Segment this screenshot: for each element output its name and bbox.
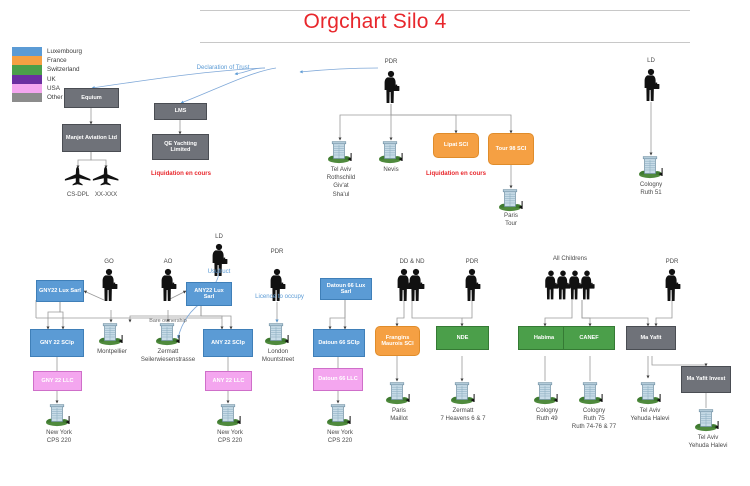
entity-nde[interactable]: NDE: [436, 326, 489, 350]
person-pdr-farright-label: PDR: [652, 258, 692, 266]
property-cologny-ruth-51-icon: [636, 155, 666, 179]
property-tel-aviv-rothschild-label: Tel Aviv Rothschild Giv'at Sha'ul: [312, 166, 370, 199]
entity-tour-98-sci[interactable]: Tour 98 SCI: [488, 133, 534, 165]
legend-label-switzerland: Switzerland: [47, 66, 80, 73]
legend-item-switzerland: Switzerland: [12, 65, 82, 74]
person-pdr-right: [462, 268, 482, 302]
person-ld-bottom-label: LD: [199, 233, 239, 241]
entity-gny22-lux-sarl[interactable]: GNY22 Lux Sarl: [36, 280, 84, 302]
property-cologny-ruth-75-label: Cologny Ruth 75 Ruth 74-76 & 77: [560, 407, 628, 432]
entity-equium[interactable]: Equium: [64, 88, 119, 108]
rule-under-title: [200, 42, 690, 43]
entity-gny-22-scip[interactable]: GNY 22 SCIp: [30, 329, 84, 357]
property-cologny-ruth-49-icon: [531, 381, 561, 405]
entity-ma-yafit-invest[interactable]: Ma Yafit Invest: [681, 366, 731, 393]
legend-swatch-uk: [12, 75, 42, 84]
person-ao-label: AO: [148, 258, 188, 266]
legend-label-usa: USA: [47, 85, 60, 92]
legend-swatch-france: [12, 56, 42, 65]
person-pdr-top: [381, 70, 401, 104]
entity-any-22-scip[interactable]: ANY 22 SCIp: [203, 329, 253, 357]
person-go-label: GO: [89, 258, 129, 266]
page-title: Orgchart Silo 4: [0, 10, 750, 34]
entity-any-22-llc[interactable]: ANY 22 LLC: [205, 371, 252, 391]
person-all-childrens-label: All Childrens: [535, 255, 605, 263]
legend-label-luxembourg: Luxembourg: [47, 48, 82, 55]
label-usufruct: Usufruct: [194, 268, 244, 276]
entity-qe-yachting-limited[interactable]: QE Yachting Limited: [152, 134, 209, 160]
property-paris-maillot-icon: [383, 381, 413, 405]
legend-label-france: France: [47, 57, 67, 64]
property-zermatt-seilerwiesenstrasse-icon: [153, 322, 183, 346]
person-all-childrens-d: [578, 268, 596, 302]
person-go: [99, 268, 119, 302]
property-paris-tour-label: Paris Tour: [486, 212, 536, 228]
property-paris-tour-icon: [496, 188, 526, 212]
legend-swatch-luxembourg: [12, 47, 42, 56]
person-ld-top: [641, 68, 661, 102]
status-lipat-sci: Liquidation en cours: [416, 170, 496, 178]
entity-frangins-maurois-sci[interactable]: Frangins Maurois SCI: [375, 326, 420, 356]
entity-lms[interactable]: LMS: [154, 103, 207, 120]
property-tel-aviv-yehuda-halevi-1-icon: [634, 381, 664, 405]
property-zermatt-7-heavens-label: Zermatt 7 Heavens 6 & 7: [430, 407, 496, 423]
property-new-york-cps-220-datoun-label: New York CPS 220: [314, 429, 366, 445]
legend-swatch-usa: [12, 84, 42, 93]
property-new-york-cps-220-any-icon: [214, 403, 244, 427]
property-new-york-cps-220-datoun-icon: [324, 403, 354, 427]
property-zermatt-seilerwiesenstrasse-label: Zermatt Seilerwiesenstrasse: [132, 348, 204, 364]
aircraft-cs-dpl-icon: [64, 166, 92, 186]
legend-label-uk: UK: [47, 76, 56, 83]
property-tel-aviv-rothschild-icon: [325, 140, 355, 164]
entity-datoun-66-llc[interactable]: Datoun 66 LLC: [313, 368, 363, 391]
property-london-mountstreet-label: London Mountstreet: [249, 348, 307, 364]
property-cologny-ruth-51-label: Cologny Ruth 51: [626, 181, 676, 197]
entity-manjet-aviation-ltd[interactable]: Manjet Aviation Ltd: [62, 124, 121, 152]
property-nevis-icon: [376, 140, 406, 164]
entity-gny-22-llc[interactable]: GNY 22 LLC: [33, 371, 82, 391]
property-tel-aviv-yehuda-halevi-1-label: Tel Aviv Yehuda Halevi: [620, 407, 680, 423]
property-new-york-cps-220-any-label: New York CPS 220: [204, 429, 256, 445]
aircraft-xx-xxx-icon: [92, 166, 120, 186]
entity-ma-yafit[interactable]: Ma Yafit: [626, 326, 676, 350]
person-pdr-farright: [662, 268, 682, 302]
property-new-york-cps-220-gny-label: New York CPS 220: [33, 429, 85, 445]
legend-label-other: Other: [47, 94, 63, 101]
person-ao: [158, 268, 178, 302]
label-declaration-of-trust: Declaration of Trust: [168, 64, 278, 72]
property-paris-maillot-label: Paris Maillot: [373, 407, 425, 423]
status-qe-yachting: Liquidation en cours: [141, 170, 221, 178]
legend-item-france: France: [12, 56, 82, 65]
person-dd-nd-label: DD & ND: [387, 258, 437, 266]
label-licence-to-occupy: Licence to occupy: [242, 293, 317, 301]
person-ld-top-label: LD: [631, 57, 671, 65]
legend-item-uk: UK: [12, 75, 82, 84]
person-pdr-top-label: PDR: [371, 58, 411, 66]
aircraft-xx-xxx-label: XX-XXX: [86, 191, 126, 199]
property-tel-aviv-yehuda-halevi-2-icon: [692, 408, 722, 432]
entity-datoun-66-scip[interactable]: Datoun 66 SCIp: [313, 329, 365, 357]
legend-swatch-other: [12, 93, 42, 102]
person-pdr-mid-label: PDR: [257, 248, 297, 256]
property-montpellier-label: Montpellier: [86, 348, 138, 356]
entity-any22-lux-sarl[interactable]: ANY22 Lux Sarl: [186, 282, 232, 306]
legend-swatch-switzerland: [12, 65, 42, 74]
property-zermatt-7-heavens-icon: [448, 381, 478, 405]
entity-canef[interactable]: CANEF: [563, 326, 615, 350]
property-london-mountstreet-icon: [262, 322, 292, 346]
person-dd-nd-b: [406, 268, 426, 302]
entity-datoun-66-lux-sarl[interactable]: Datoun 66 Lux Sarl: [320, 278, 372, 300]
property-nevis-label: Nevis: [366, 166, 416, 174]
property-tel-aviv-yehuda-halevi-2-label: Tel Aviv Yehuda Halevi: [678, 434, 738, 450]
property-cologny-ruth-75-icon: [576, 381, 606, 405]
property-new-york-cps-220-gny-icon: [43, 403, 73, 427]
property-montpellier-icon: [96, 322, 126, 346]
legend-item-luxembourg: Luxembourg: [12, 47, 82, 56]
entity-lipat-sci[interactable]: Lipat SCI: [433, 133, 479, 158]
person-pdr-right-label: PDR: [452, 258, 492, 266]
